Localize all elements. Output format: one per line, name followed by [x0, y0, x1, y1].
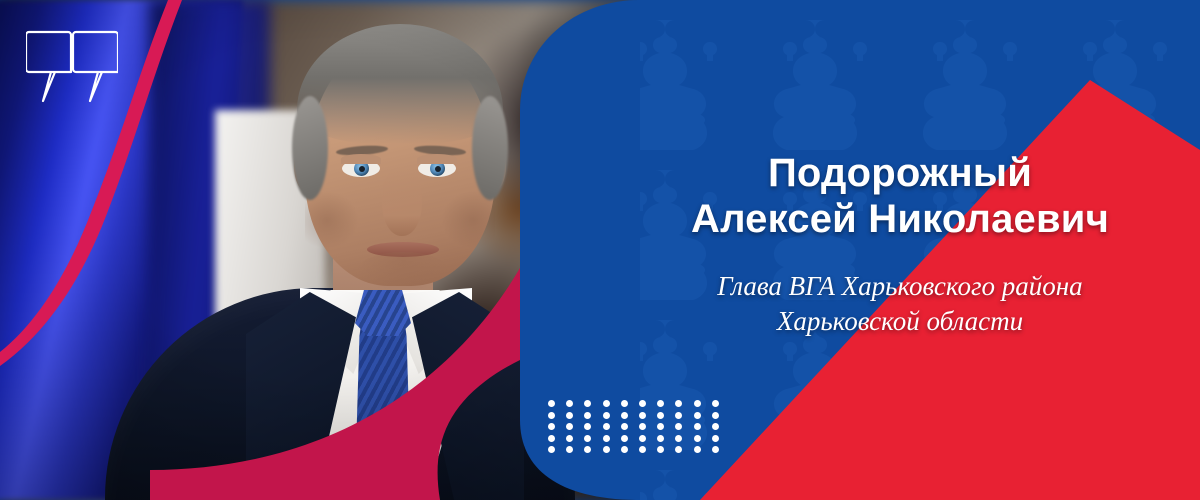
- dot: [639, 435, 646, 442]
- dot: [675, 423, 682, 430]
- dot: [566, 435, 573, 442]
- dot: [603, 446, 610, 453]
- dot: [639, 423, 646, 430]
- dot: [639, 446, 646, 453]
- dot: [712, 423, 719, 430]
- dot: [603, 435, 610, 442]
- dot: [584, 400, 591, 407]
- dot: [657, 412, 664, 419]
- dot: [584, 446, 591, 453]
- person-role: Глава ВГА Харьковского района Харьковско…: [610, 269, 1190, 339]
- dot: [603, 412, 610, 419]
- dot: [566, 423, 573, 430]
- dot: [675, 435, 682, 442]
- dot: [657, 446, 664, 453]
- dot: [566, 400, 573, 407]
- dot: [603, 423, 610, 430]
- person-role-line-2: Харьковской области: [610, 304, 1190, 339]
- dot: [621, 435, 628, 442]
- dot: [712, 400, 719, 407]
- dot-grid-decoration: [548, 400, 730, 458]
- dot: [694, 400, 701, 407]
- dot: [712, 412, 719, 419]
- dot: [621, 446, 628, 453]
- quote-marks-icon: [26, 28, 118, 106]
- dot: [675, 412, 682, 419]
- dot: [548, 400, 555, 407]
- dot: [657, 435, 664, 442]
- dot: [712, 446, 719, 453]
- dot: [548, 435, 555, 442]
- official-portrait-banner: Подорожный Алексей Николаевич Глава ВГА …: [0, 0, 1200, 500]
- dot: [548, 412, 555, 419]
- person-role-line-1: Глава ВГА Харьковского района: [610, 269, 1190, 304]
- dot: [548, 446, 555, 453]
- dot: [694, 423, 701, 430]
- dot: [621, 423, 628, 430]
- dot: [657, 400, 664, 407]
- dot: [621, 400, 628, 407]
- dot: [657, 423, 664, 430]
- dot: [675, 400, 682, 407]
- person-name: Подорожный Алексей Николаевич: [610, 150, 1190, 243]
- dot: [566, 412, 573, 419]
- dot: [639, 400, 646, 407]
- dot: [584, 412, 591, 419]
- dot: [621, 412, 628, 419]
- person-text-block: Подорожный Алексей Николаевич Глава ВГА …: [610, 150, 1190, 339]
- dot: [548, 423, 555, 430]
- dot: [639, 412, 646, 419]
- dot: [675, 446, 682, 453]
- dot: [694, 412, 701, 419]
- dot: [694, 435, 701, 442]
- dot: [603, 400, 610, 407]
- dot: [584, 435, 591, 442]
- person-name-line-2: Алексей Николаевич: [610, 196, 1190, 242]
- dot: [694, 446, 701, 453]
- dot: [584, 423, 591, 430]
- person-name-line-1: Подорожный: [610, 150, 1190, 196]
- dot: [566, 446, 573, 453]
- dot: [712, 435, 719, 442]
